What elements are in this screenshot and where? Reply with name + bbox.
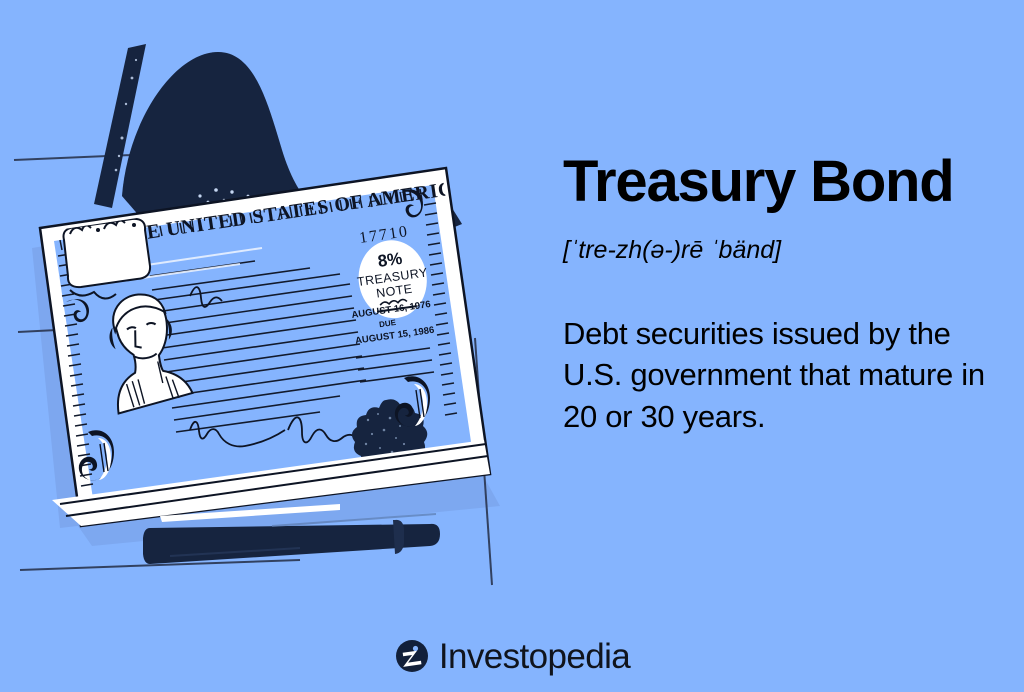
brand-logo: Investopedia — [0, 638, 1024, 674]
treasury-bond-certificate-illustration: THE UNITED STATES OF AMERICA 17710 — [0, 0, 540, 620]
infographic-canvas: THE UNITED STATES OF AMERICA 17710 — [0, 0, 1024, 692]
bond-certificate: THE UNITED STATES OF AMERICA 17710 — [40, 168, 490, 526]
definition-block: Treasury Bond [ˈtre-zh(ə-)rē ˈbänd] Debt… — [563, 152, 1003, 437]
investopedia-circle-z-icon — [394, 638, 430, 674]
pronunciation: [ˈtre-zh(ə-)rē ˈbänd] — [563, 213, 1003, 265]
brand-name: Investopedia — [439, 639, 630, 674]
stamp-rate: 8% — [376, 249, 403, 271]
page-title: Treasury Bond — [563, 152, 1003, 213]
definition-text: Debt securities issued by the U.S. gover… — [563, 265, 1003, 438]
